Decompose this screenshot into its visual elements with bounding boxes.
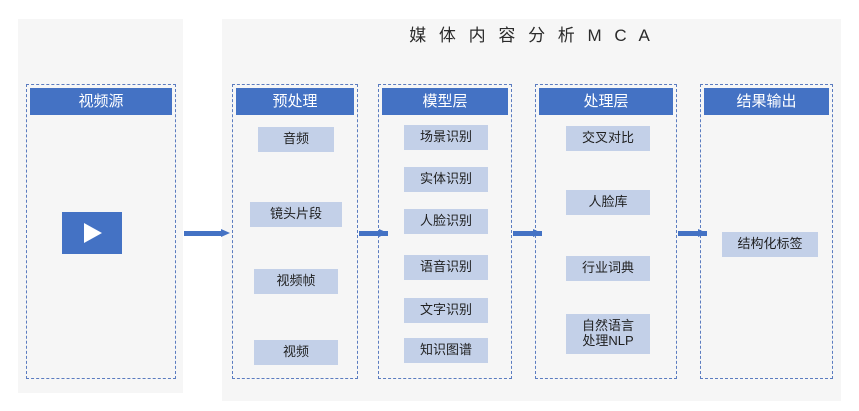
chip-preprocess-video[interactable]: 视频 [254,340,338,365]
column-body-result-output: 结构化标签 [701,118,832,374]
diagram-title: 媒 体 内 容 分 析 M C A [222,19,841,53]
chip-process-face-database[interactable]: 人脸库 [566,190,650,215]
column-result-output: 结果输出 结构化标签 [700,84,833,379]
column-body-preprocess: 音频 镜头片段 视频帧 视频 [233,118,357,374]
chip-model-text-recognition[interactable]: 文字识别 [404,298,488,323]
column-header-result-output: 结果输出 [704,88,829,115]
arrow-head [533,229,542,237]
arrow-model-to-process [513,229,551,238]
chip-model-scene-recognition[interactable]: 场景识别 [404,125,488,150]
chip-process-cross-compare[interactable]: 交叉对比 [566,126,650,151]
video-play-icon[interactable] [62,212,122,254]
arrow-head [698,229,707,237]
chip-model-speech-recognition[interactable]: 语音识别 [404,255,488,280]
arrow-source-to-preprocess [184,229,230,238]
column-header-preprocess: 预处理 [236,88,354,115]
chip-model-knowledge-graph[interactable]: 知识图谱 [404,338,488,363]
chip-process-nlp[interactable]: 自然语言 处理NLP [566,314,650,354]
column-body-process-layer: 交叉对比 人脸库 行业词典 自然语言 处理NLP [536,118,676,374]
arrow-process-to-output [678,229,716,238]
chip-model-entity-recognition[interactable]: 实体识别 [404,167,488,192]
chip-model-face-recognition[interactable]: 人脸识别 [404,209,488,234]
column-header-model-layer: 模型层 [382,88,508,115]
chip-preprocess-video-frame[interactable]: 视频帧 [254,269,338,294]
column-header-process-layer: 处理层 [539,88,673,115]
chip-preprocess-shot-clip[interactable]: 镜头片段 [250,202,342,227]
chip-process-industry-dictionary[interactable]: 行业词典 [566,256,650,281]
chip-output-structured-tags[interactable]: 结构化标签 [722,232,818,257]
column-model-layer: 模型层 场景识别 实体识别 人脸识别 语音识别 文字识别 知识图谱 [378,84,512,379]
arrow-head [379,229,388,237]
column-header-video-source: 视频源 [30,88,172,115]
arrow-head [221,229,230,237]
play-triangle-icon [84,223,102,243]
column-preprocess: 预处理 音频 镜头片段 视频帧 视频 [232,84,358,379]
arrow-preprocess-to-model [359,229,397,238]
column-process-layer: 处理层 交叉对比 人脸库 行业词典 自然语言 处理NLP [535,84,677,379]
column-body-model-layer: 场景识别 实体识别 人脸识别 语音识别 文字识别 知识图谱 [379,118,511,374]
chip-preprocess-audio[interactable]: 音频 [258,127,334,152]
arrow-shaft [184,231,221,236]
diagram-canvas: 媒 体 内 容 分 析 M C A 视频源 预处理 音频 镜头片段 视频帧 视频… [0,0,859,411]
